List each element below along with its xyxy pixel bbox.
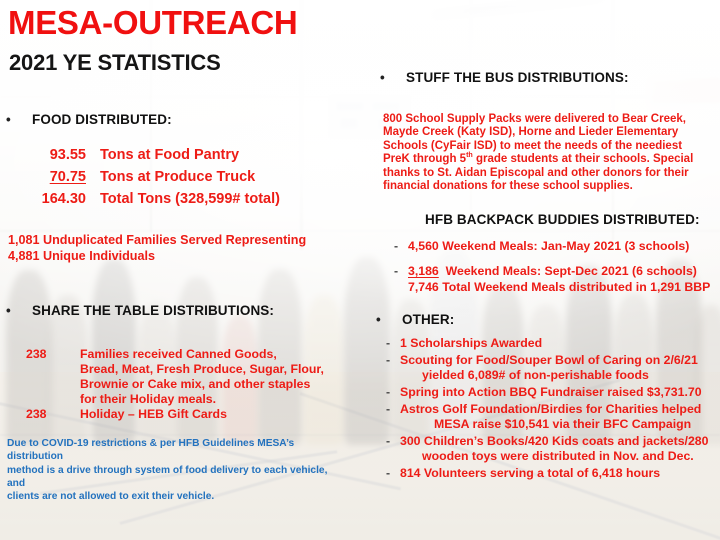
covid-note-line: Due to COVID-19 restrictions & per HFB G… bbox=[7, 437, 337, 464]
other-item: -Spring into Action BBQ Fundraiser raise… bbox=[400, 385, 702, 400]
other-item-line: MESA raise $10,541 via their BFC Campaig… bbox=[400, 417, 701, 432]
other-item: -Astros Golf Foundation/Birdies for Char… bbox=[400, 402, 701, 432]
other-item: -814 Volunteers serving a total of 6,418… bbox=[400, 466, 660, 481]
other-item-line: Scouting for Food/Souper Bowl of Caring … bbox=[400, 353, 698, 367]
stuff-the-bus-line: PreK through 5th grade students at their… bbox=[383, 153, 713, 166]
other-item-line: Spring into Action BBQ Fundraiser raised… bbox=[400, 385, 702, 399]
backpack-item-text: 7,746 Total Weekend Meals distributed in… bbox=[408, 280, 710, 294]
share-table-desc-line: for their Holiday meals. bbox=[80, 392, 324, 407]
ordinal-superscript: th bbox=[466, 152, 473, 160]
food-stat-row-total: 164.30Total Tons (328,599# total) bbox=[8, 191, 280, 207]
stuff-the-bus-line: Mayde Creek (Katy ISD), Horne and Lieder… bbox=[383, 126, 713, 139]
food-stat-row: 70.75Tons at Produce Truck bbox=[8, 169, 255, 185]
share-table-desc-line: Families received Canned Goods, bbox=[80, 347, 324, 362]
dash-bullet-icon: - bbox=[386, 385, 390, 400]
other-item-line: 300 Children’s Books/420 Kids coats and … bbox=[400, 434, 708, 448]
share-table-count: 238 bbox=[26, 347, 47, 361]
dash-bullet-icon: - bbox=[394, 239, 398, 254]
heading-other: •OTHER: bbox=[376, 312, 454, 327]
share-table-count: 238 bbox=[26, 407, 47, 421]
other-item: -Scouting for Food/Souper Bowl of Caring… bbox=[400, 353, 698, 383]
bullet-dot-icon: • bbox=[380, 70, 406, 85]
heading-stuff-the-bus: •STUFF THE BUS DISTRIBUTIONS: bbox=[380, 70, 629, 85]
covid-note-line: clients are not allowed to exit their ve… bbox=[7, 490, 337, 503]
slide-canvas: MESA-OUTREACH 2021 YE STATISTICS •FOOD D… bbox=[0, 0, 720, 540]
families-served-line: 1,081 Unduplicated Families Served Repre… bbox=[8, 233, 306, 248]
share-table-desc: Families received Canned Goods, Bread, M… bbox=[80, 347, 324, 408]
stuff-the-bus-line: thanks to St. Aidan Episcopal and other … bbox=[383, 167, 713, 180]
unique-individuals-line: 4,881 Unique Individuals bbox=[8, 249, 155, 264]
stuff-the-bus-line-pre: PreK through 5 bbox=[383, 153, 466, 165]
page-title: MESA-OUTREACH bbox=[8, 4, 297, 42]
backpack-item-text: Weekend Meals: Sept-Dec 2021 (6 schools) bbox=[446, 264, 697, 278]
other-item: -1 Scholarships Awarded bbox=[400, 336, 542, 351]
heading-backpack-buddies: HFB BACKPACK BUDDIES DISTRIBUTED: bbox=[425, 212, 700, 227]
dash-bullet-icon: - bbox=[394, 264, 398, 279]
dash-bullet-icon: - bbox=[386, 434, 390, 449]
other-item-line: 814 Volunteers serving a total of 6,418 … bbox=[400, 466, 660, 480]
food-stat-label: Tons at Produce Truck bbox=[86, 169, 255, 185]
food-stat-label: Total Tons (328,599# total) bbox=[86, 191, 280, 207]
stuff-the-bus-line: Schools (CyFair ISD) to meet the needs o… bbox=[383, 140, 713, 153]
backpack-item-count: 3,186 bbox=[408, 264, 439, 278]
page-subtitle: 2021 YE STATISTICS bbox=[9, 50, 221, 76]
food-stat-row: 93.55Tons at Food Pantry bbox=[8, 147, 239, 163]
covid-note-line: method is a drive through system of food… bbox=[7, 464, 337, 491]
backpack-item-total: 7,746 Total Weekend Meals distributed in… bbox=[408, 280, 710, 295]
share-table-desc-line: Bread, Meat, Fresh Produce, Sugar, Flour… bbox=[80, 362, 324, 377]
dash-bullet-icon: - bbox=[386, 466, 390, 481]
stuff-the-bus-body: 800 School Supply Packs were delivered t… bbox=[383, 113, 713, 194]
backpack-item: -4,560 Weekend Meals: Jan-May 2021 (3 sc… bbox=[408, 239, 689, 254]
bullet-dot-icon: • bbox=[6, 303, 32, 318]
other-item-line: wooden toys were distributed in Nov. and… bbox=[400, 449, 708, 464]
heading-food-distributed: •FOOD DISTRIBUTED: bbox=[6, 112, 172, 127]
backpack-item: -3,186 Weekend Meals: Sept-Dec 2021 (6 s… bbox=[408, 264, 697, 279]
stuff-the-bus-line-post: grade students at their schools. Special bbox=[473, 153, 693, 165]
other-item: -300 Children’s Books/420 Kids coats and… bbox=[400, 434, 708, 464]
other-item-line: 1 Scholarships Awarded bbox=[400, 336, 542, 350]
share-table-desc: Holiday – HEB Gift Cards bbox=[80, 407, 227, 422]
stuff-the-bus-line: 800 School Supply Packs were delivered t… bbox=[383, 113, 713, 126]
food-stat-value: 164.30 bbox=[8, 191, 86, 207]
other-item-line: Astros Golf Foundation/Birdies for Chari… bbox=[400, 402, 701, 416]
backpack-item-text: 4,560 Weekend Meals: Jan-May 2021 (3 sch… bbox=[408, 239, 689, 253]
stuff-the-bus-line: financial donations for these school sup… bbox=[383, 180, 713, 193]
covid-note: Due to COVID-19 restrictions & per HFB G… bbox=[7, 437, 337, 503]
bullet-dot-icon: • bbox=[376, 312, 402, 327]
dash-bullet-icon: - bbox=[386, 336, 390, 351]
food-stat-value: 93.55 bbox=[8, 147, 86, 163]
dash-bullet-icon: - bbox=[386, 353, 390, 368]
dash-bullet-icon: - bbox=[386, 402, 390, 417]
bullet-dot-icon: • bbox=[6, 112, 32, 127]
other-item-line: yielded 6,089# of non-perishable foods bbox=[400, 368, 698, 383]
food-stat-label: Tons at Food Pantry bbox=[86, 147, 239, 163]
share-table-desc-line: Brownie or Cake mix, and other staples bbox=[80, 377, 324, 392]
share-table-desc-line: Holiday – HEB Gift Cards bbox=[80, 407, 227, 422]
slide-content: MESA-OUTREACH 2021 YE STATISTICS •FOOD D… bbox=[0, 0, 720, 540]
heading-share-the-table: •SHARE THE TABLE DISTRIBUTIONS: bbox=[6, 303, 274, 318]
food-stat-value: 70.75 bbox=[8, 169, 86, 185]
